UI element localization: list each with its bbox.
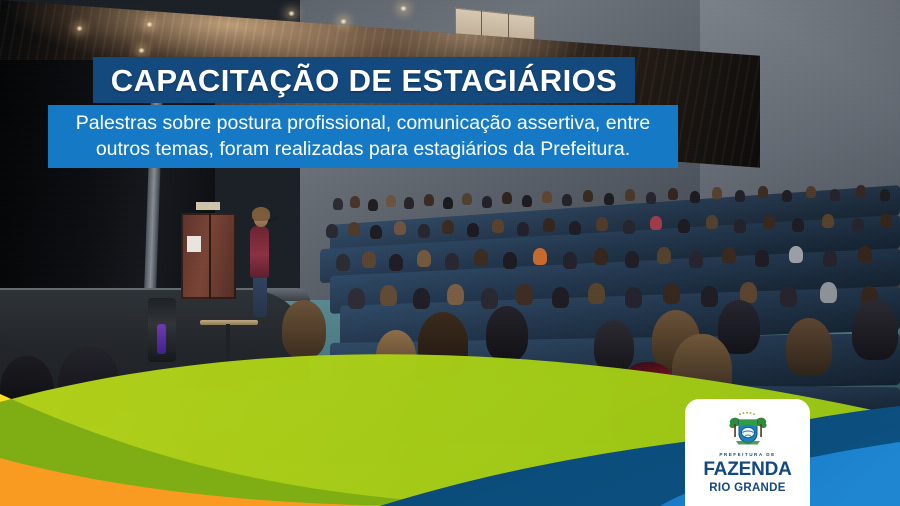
logo-name-secondary: RIO GRANDE — [709, 482, 785, 495]
prefeitura-logo-card: PREFEITURA DE FAZENDA RIO GRANDE — [685, 399, 810, 506]
coat-of-arms-icon — [720, 410, 776, 450]
page-title: CAPACITAÇÃO DE ESTAGIÁRIOS — [111, 65, 617, 96]
logo-name: FAZENDA — [703, 460, 791, 479]
title-banner: CAPACITAÇÃO DE ESTAGIÁRIOS — [93, 57, 635, 103]
promo-banner: CAPACITAÇÃO DE ESTAGIÁRIOS Palestras sob… — [0, 0, 900, 506]
subtitle-banner: Palestras sobre postura profissional, co… — [48, 105, 678, 168]
page-subtitle: Palestras sobre postura profissional, co… — [62, 111, 664, 162]
logo-eyebrow: PREFEITURA DE — [719, 453, 775, 458]
